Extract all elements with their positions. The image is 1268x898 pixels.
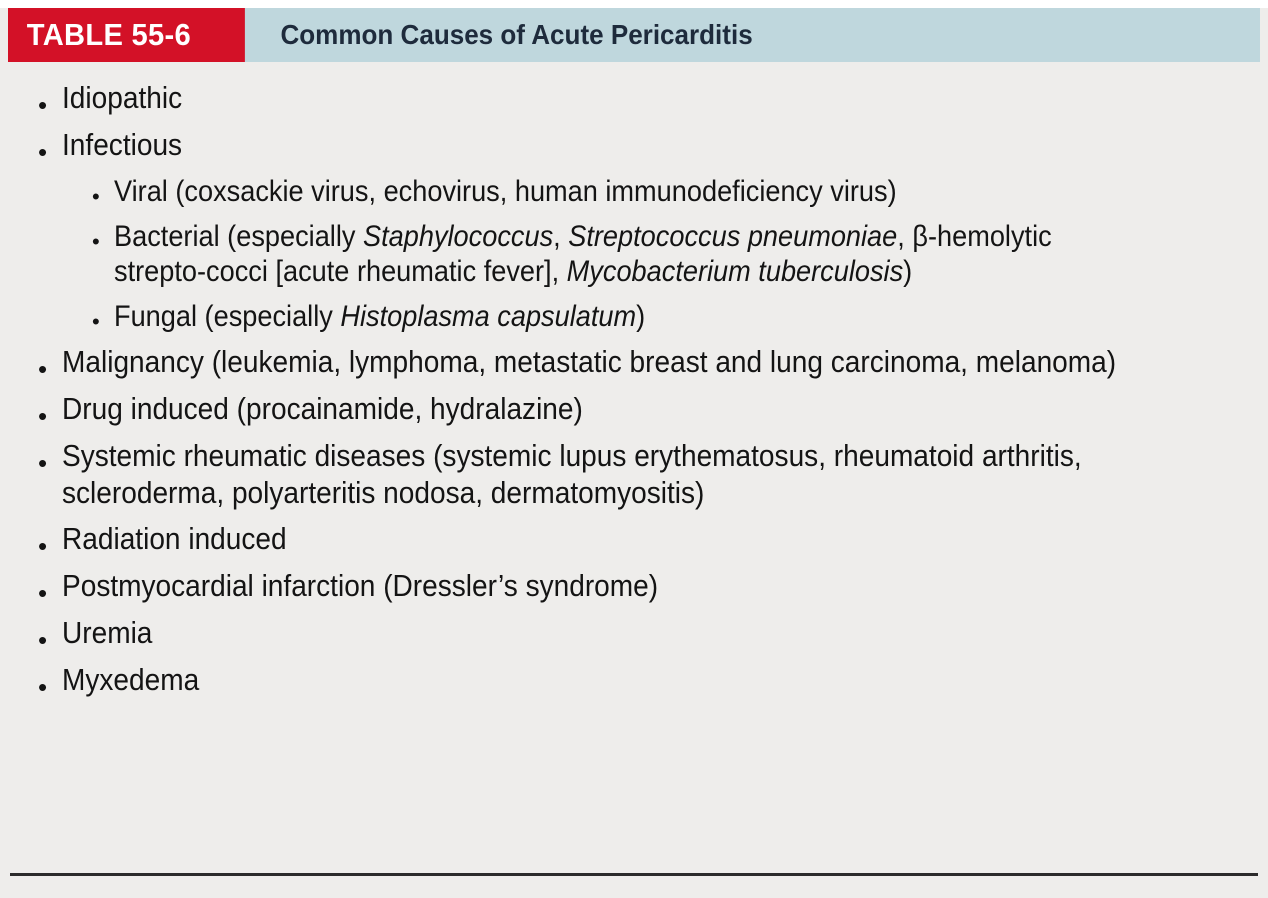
list-item: •Radiation induced: [14, 521, 1254, 559]
list-item-label: Bacterial (especially Staphylococcus, St…: [114, 219, 1146, 290]
list-item: •Malignancy (leukemia, lymphoma, metasta…: [14, 344, 1254, 382]
list-item: •Drug induced (procainamide, hydralazine…: [14, 391, 1254, 429]
bullet-icon: •: [38, 127, 62, 165]
table-header: TABLE 55-6 Common Causes of Acute Perica…: [8, 8, 1260, 70]
list-item-label: Radiation induced: [62, 521, 287, 558]
list-item-label: Systemic rheumatic diseases (systemic lu…: [62, 438, 1141, 512]
bullet-icon: •: [38, 615, 62, 653]
bullet-icon: •: [38, 568, 62, 606]
bullet-icon: •: [38, 391, 62, 429]
table-number-badge: TABLE 55-6: [8, 8, 245, 62]
list-item: •Systemic rheumatic diseases (systemic l…: [14, 438, 1254, 512]
list-item-label: Fungal (especially Histoplasma capsulatu…: [114, 299, 645, 335]
list-item-label: Uremia: [62, 615, 152, 652]
bullet-icon: •: [92, 299, 114, 333]
list-item: •Uremia: [14, 615, 1254, 653]
bullet-icon: •: [38, 662, 62, 700]
list-item: •Infectious: [14, 127, 1254, 165]
bullet-icon: •: [38, 438, 62, 476]
bullet-icon: •: [38, 344, 62, 382]
list-item: •Idiopathic: [14, 80, 1254, 118]
bullet-icon: •: [38, 521, 62, 559]
bullet-icon: •: [92, 219, 114, 253]
bullet-icon: •: [38, 80, 62, 118]
list-item: •Postmyocardial infarction (Dressler’s s…: [14, 568, 1254, 606]
list-item: •Myxedema: [14, 662, 1254, 700]
table-card: TABLE 55-6 Common Causes of Acute Perica…: [0, 8, 1268, 898]
list-item-label: Postmyocardial infarction (Dressler’s sy…: [62, 568, 658, 605]
list-item: •Bacterial (especially Staphylococcus, S…: [14, 219, 1254, 290]
table-title: Common Causes of Acute Pericarditis: [260, 8, 753, 62]
causes-list: •Idiopathic•Infectious•Viral (coxsackie …: [0, 70, 1268, 700]
list-item-label: Idiopathic: [62, 80, 182, 117]
list-item-label: Malignancy (leukemia, lymphoma, metastat…: [62, 344, 1116, 381]
list-item: •Viral (coxsackie virus, echovirus, huma…: [14, 174, 1254, 210]
list-item-label: Myxedema: [62, 662, 199, 699]
list-item-label: Viral (coxsackie virus, echovirus, human…: [114, 174, 897, 210]
table-bottom-rule: [10, 873, 1258, 876]
list-item-label: Infectious: [62, 127, 182, 164]
bullet-icon: •: [92, 174, 114, 208]
list-item-label: Drug induced (procainamide, hydralazine): [62, 391, 583, 428]
list-item: •Fungal (especially Histoplasma capsulat…: [14, 299, 1254, 335]
